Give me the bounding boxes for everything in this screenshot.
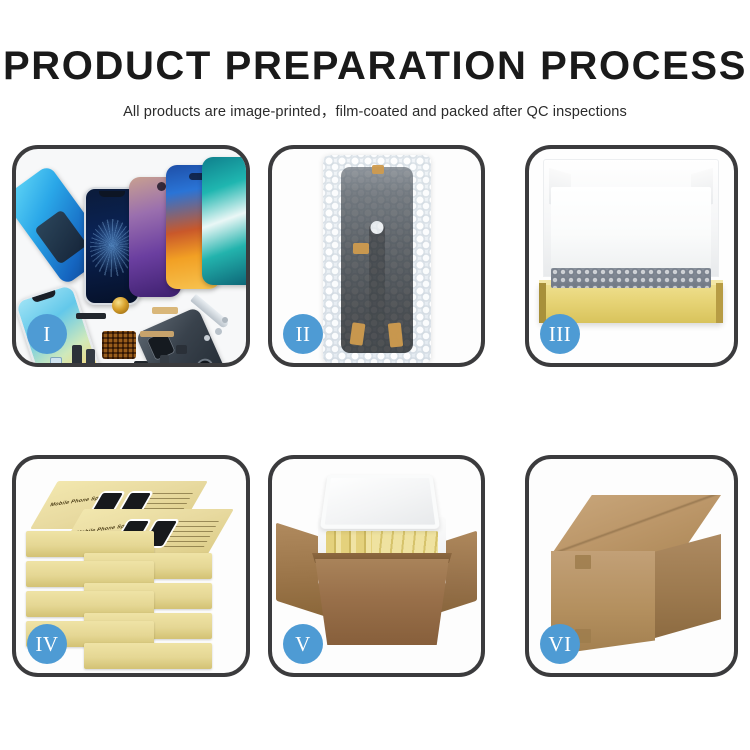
- connector-d: [72, 345, 82, 363]
- step-card-i: I: [12, 145, 250, 367]
- tape-strip: [349, 322, 365, 346]
- tape-strip: [372, 165, 384, 174]
- phone-notch-icon: [32, 290, 57, 303]
- phone-screen-teal: [202, 157, 246, 285]
- header: PRODUCT PREPARATION PROCESS All products…: [0, 0, 750, 121]
- flex-cable-b: [140, 331, 174, 337]
- step-card-iv: Mobile Phone Spare Parts Mobile Phone Sp…: [12, 455, 250, 677]
- carton-side-face: [655, 534, 721, 638]
- step-card-ii: II: [268, 145, 485, 367]
- tray-edge-left: [539, 283, 546, 323]
- steps-grid: I II: [0, 145, 750, 680]
- phone-notch-icon: [99, 191, 125, 197]
- step-card-iii: III: [525, 145, 738, 367]
- vibration-motor-icon: [112, 297, 129, 314]
- bubble-wrap-fill: [551, 268, 711, 288]
- phone-camera-hole-icon: [157, 182, 166, 191]
- screw-icon: [222, 317, 228, 323]
- flex-cable-a: [152, 307, 178, 314]
- step-card-vi: VI: [525, 455, 738, 677]
- connector-k: [160, 355, 169, 363]
- page-title: PRODUCT PREPARATION PROCESS: [0, 46, 750, 86]
- foam-box-lid: [320, 475, 440, 529]
- lcd-flex-cable: [369, 225, 385, 351]
- tray-edge-right: [716, 283, 723, 323]
- flex-cable-c: [76, 313, 106, 319]
- foam-sheet: [551, 187, 711, 273]
- step-badge-iii: III: [540, 314, 580, 354]
- step-card-v: V: [268, 455, 485, 677]
- lcd-connector-icon: [370, 221, 383, 234]
- screw-icon: [204, 335, 210, 341]
- stacked-box: [84, 643, 212, 669]
- tape-strip: [353, 243, 369, 254]
- connector-e: [86, 349, 95, 363]
- connector-g: [134, 361, 148, 363]
- product-preparation-infographic: PRODUCT PREPARATION PROCESS All products…: [0, 0, 750, 750]
- step-badge-ii: II: [283, 314, 323, 354]
- step-badge-i: I: [27, 314, 67, 354]
- phone-wallpaper-web: [90, 219, 134, 277]
- step-badge-v: V: [283, 624, 323, 664]
- step-badge-iv: IV: [27, 624, 67, 664]
- carton-body: [306, 559, 458, 645]
- screw-grid-tray-icon: [102, 331, 136, 359]
- screw-icon: [215, 328, 222, 335]
- sim-tray-icon: [50, 357, 62, 363]
- page-subtitle: All products are image-printed，film-coat…: [0, 100, 750, 121]
- step-badge-vi: VI: [540, 624, 580, 664]
- connector-h: [176, 345, 187, 354]
- bubble-wrap-bag: [323, 155, 431, 363]
- carton-tape-upper: [575, 555, 591, 569]
